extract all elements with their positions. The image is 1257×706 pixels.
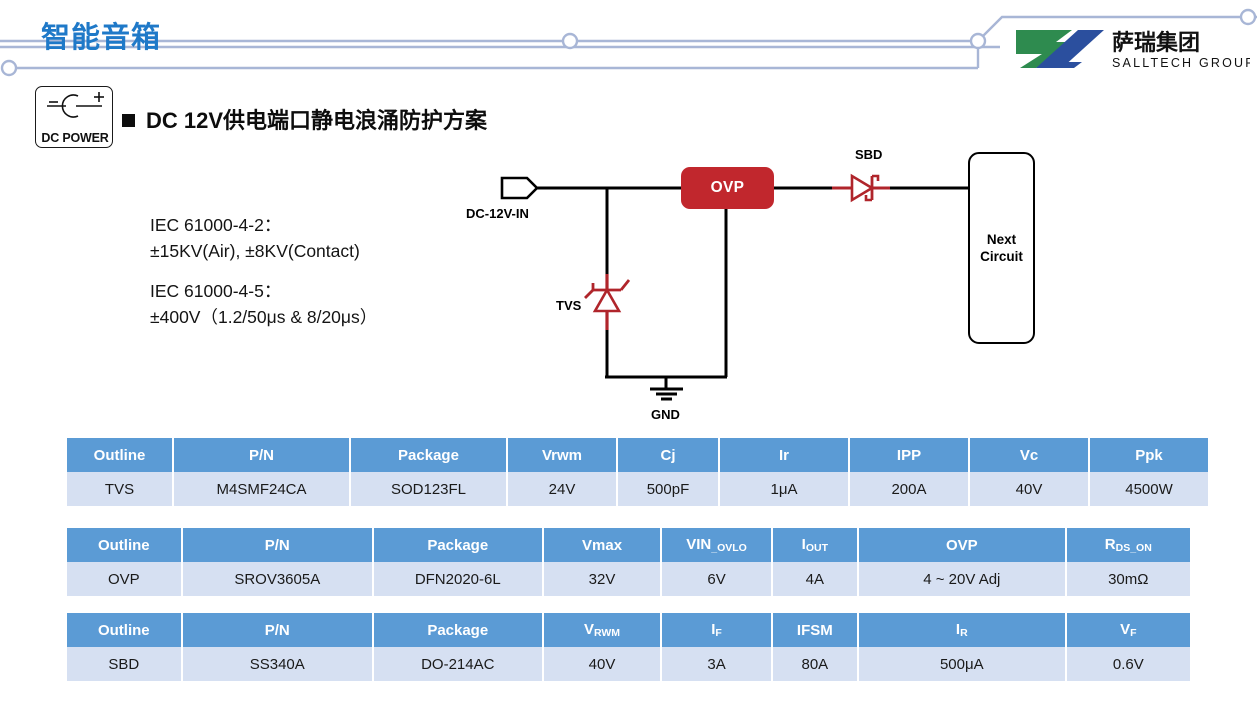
table-cell: OVP: [67, 562, 181, 596]
table-row: SBDSS340ADO-214AC40V3A80A500μA0.6V: [67, 647, 1190, 681]
column-header: IR: [859, 613, 1065, 647]
column-header: IFSM: [773, 613, 857, 647]
column-header: Ir: [720, 438, 848, 472]
table-cell: 3A: [662, 647, 770, 681]
table-cell: 4500W: [1090, 472, 1208, 506]
table-cell: 24V: [508, 472, 616, 506]
table-cell: 30mΩ: [1067, 562, 1190, 596]
table-cell: DFN2020-6L: [374, 562, 542, 596]
slide-root: 智能音箱 萨瑞集团 SALLTECH GROUP DC POWER DC 12V…: [0, 0, 1257, 706]
table-cell: 200A: [850, 472, 968, 506]
column-header: IOUT: [773, 528, 857, 562]
ovp-block: OVP: [681, 167, 774, 209]
column-header: P/N: [174, 438, 349, 472]
column-header: Vmax: [544, 528, 661, 562]
tvs-diode-symbol: [585, 274, 629, 330]
table-cell: SS340A: [183, 647, 372, 681]
table-header-row: OutlineP/NPackageVmaxVIN_OVLOIOUTOVPRDS_…: [67, 528, 1190, 562]
column-header: Outline: [67, 438, 172, 472]
table-cell: 4 ~ 20V Adj: [859, 562, 1065, 596]
table-cell: 32V: [544, 562, 661, 596]
input-connector-icon: [502, 178, 537, 198]
column-header: Package: [351, 438, 506, 472]
table-cell: 40V: [970, 472, 1088, 506]
gnd-label: GND: [651, 407, 680, 422]
table-cell: SROV3605A: [183, 562, 372, 596]
table-row: OVPSROV3605ADFN2020-6L32V6V4A4 ~ 20V Adj…: [67, 562, 1190, 596]
column-header: Vc: [970, 438, 1088, 472]
column-header: IF: [662, 613, 770, 647]
tvs-label: TVS: [556, 298, 581, 313]
column-header: OVP: [859, 528, 1065, 562]
next-circuit-block: Next Circuit: [968, 152, 1035, 344]
column-header: IPP: [850, 438, 968, 472]
table-cell: SOD123FL: [351, 472, 506, 506]
table-cell: 1μA: [720, 472, 848, 506]
column-header: Ppk: [1090, 438, 1208, 472]
table-cell: 40V: [544, 647, 661, 681]
table-header-row: OutlineP/NPackageVrwmCjIrIPPVcPpk: [67, 438, 1208, 472]
next-circuit-line1: Next: [987, 232, 1016, 247]
table-cell: 6V: [662, 562, 770, 596]
column-header: Package: [374, 528, 542, 562]
table-cell: M4SMF24CA: [174, 472, 349, 506]
column-header: P/N: [183, 613, 372, 647]
table-cell: 80A: [773, 647, 857, 681]
column-header: Cj: [618, 438, 718, 472]
table-cell: 500μA: [859, 647, 1065, 681]
column-header: VRWM: [544, 613, 661, 647]
table-header-row: OutlineP/NPackageVRWMIFIFSMIRVF: [67, 613, 1190, 647]
table-cell: SBD: [67, 647, 181, 681]
table-row: TVSM4SMF24CASOD123FL24V500pF1μA200A40V45…: [67, 472, 1208, 506]
column-header: RDS_ON: [1067, 528, 1190, 562]
column-header: Outline: [67, 613, 181, 647]
ground-symbol: [650, 377, 683, 399]
sbd-table: OutlineP/NPackageVRWMIFIFSMIRVF SBDSS340…: [65, 613, 1192, 681]
column-header: VF: [1067, 613, 1190, 647]
column-header: Vrwm: [508, 438, 616, 472]
table-cell: 0.6V: [1067, 647, 1190, 681]
table-cell: TVS: [67, 472, 172, 506]
next-circuit-line2: Circuit: [980, 249, 1023, 264]
column-header: VIN_OVLO: [662, 528, 770, 562]
input-label: DC-12V-IN: [466, 206, 529, 221]
table-cell: 500pF: [618, 472, 718, 506]
column-header: Package: [374, 613, 542, 647]
column-header: Outline: [67, 528, 181, 562]
sbd-label: SBD: [855, 147, 882, 162]
column-header: P/N: [183, 528, 372, 562]
table-cell: 4A: [773, 562, 857, 596]
protection-circuit-diagram: [0, 0, 1257, 440]
ovp-table: OutlineP/NPackageVmaxVIN_OVLOIOUTOVPRDS_…: [65, 528, 1192, 596]
tvs-table: OutlineP/NPackageVrwmCjIrIPPVcPpk TVSM4S…: [65, 438, 1210, 506]
table-cell: DO-214AC: [374, 647, 542, 681]
